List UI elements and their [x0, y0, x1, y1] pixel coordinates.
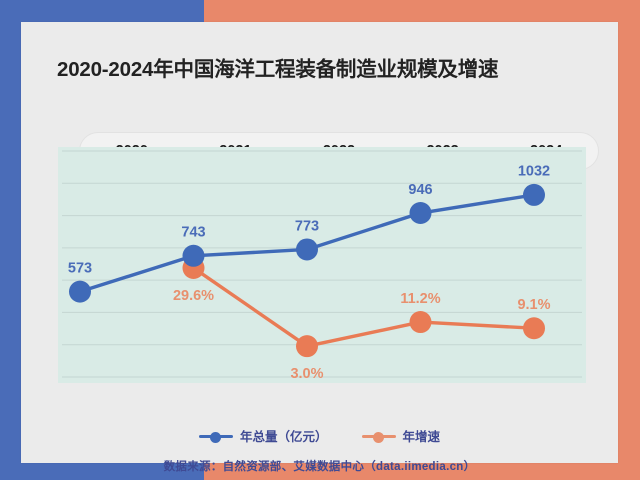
svg-text:11.2%: 11.2% [400, 291, 440, 307]
legend-label-total: 年总量（亿元） [240, 426, 328, 445]
plot-area: 29.6%3.0%11.2%9.1% 5737437739461032 [58, 147, 586, 383]
svg-text:3.0%: 3.0% [290, 366, 323, 382]
legend-swatch-growth-icon [362, 429, 396, 443]
legend-item-growth[interactable]: 年增速 [362, 426, 441, 445]
legend-swatch-total-icon [199, 429, 233, 443]
chart-legend: 年总量（亿元） 年增速 [21, 426, 618, 445]
svg-text:573: 573 [68, 260, 92, 276]
svg-text:1032: 1032 [518, 164, 550, 180]
legend-label-growth: 年增速 [403, 426, 441, 445]
data-source-note: 数据来源：自然资源部、艾媒数据中心（data.iimedia.cn） [21, 458, 618, 474]
total-series-markers [69, 184, 545, 303]
chart-infographic: 2020-2024年中国海洋工程装备制造业规模及增速 2020 2021 202… [0, 0, 640, 480]
growth-series-markers [183, 257, 546, 357]
svg-text:9.1%: 9.1% [517, 297, 550, 313]
svg-text:946: 946 [408, 182, 432, 198]
svg-text:743: 743 [181, 225, 205, 241]
legend-item-total[interactable]: 年总量（亿元） [199, 426, 328, 445]
chart-card: 2020-2024年中国海洋工程装备制造业规模及增速 2020 2021 202… [21, 22, 618, 463]
page-title: 2020-2024年中国海洋工程装备制造业规模及增速 [57, 52, 597, 82]
chart-svg: 29.6%3.0%11.2%9.1% 5737437739461032 [58, 147, 586, 383]
svg-text:773: 773 [295, 218, 319, 234]
svg-text:29.6%: 29.6% [173, 288, 214, 304]
